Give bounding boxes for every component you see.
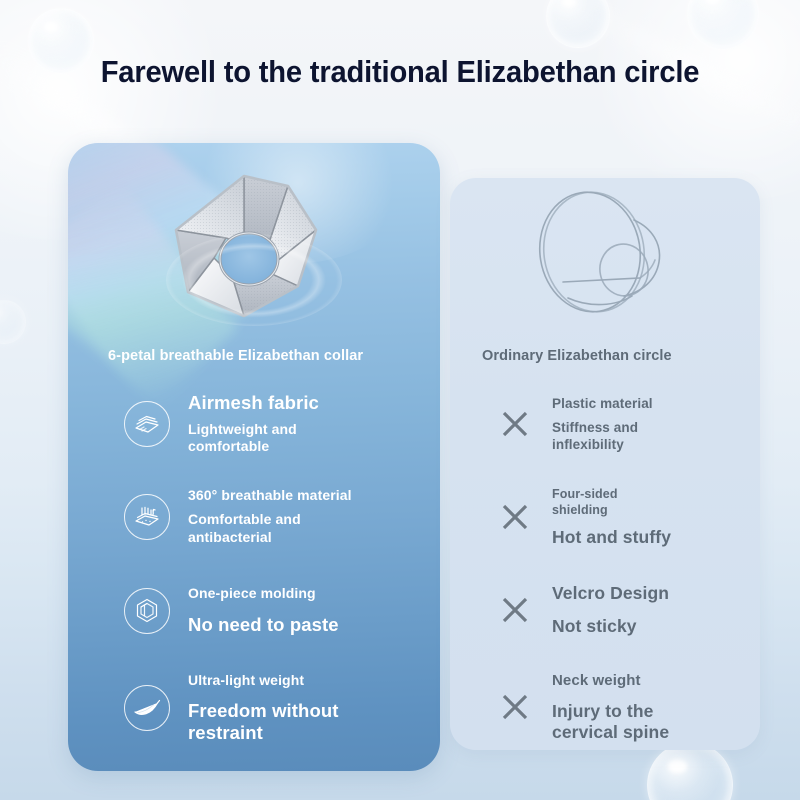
feature-detail: Freedom without restraint — [188, 700, 353, 744]
x-mark-icon — [498, 690, 532, 724]
one-piece-cube-icon — [124, 588, 170, 634]
drawback-detail: Injury to the cervical spine — [552, 701, 677, 743]
feature-row-ultra-light: Ultra-light weight Freedom without restr… — [124, 672, 353, 744]
x-mark-icon — [498, 593, 532, 627]
drawback-text-four-sided-shielding: Four-sided shielding Hot and stuffy — [552, 487, 671, 548]
feature-text-ultra-light: Ultra-light weight Freedom without restr… — [188, 672, 353, 744]
drawback-heading: Velcro Design — [552, 583, 669, 604]
feature-row-airmesh: Airmesh fabric Lightweight and comfortab… — [124, 392, 338, 456]
feature-detail: No need to paste — [188, 614, 339, 636]
feature-row-one-piece-molding: One-piece molding No need to paste — [124, 585, 339, 636]
feature-text-one-piece-molding: One-piece molding No need to paste — [188, 585, 339, 636]
feather-icon — [124, 685, 170, 731]
drawback-row-neck-weight: Neck weight Injury to the cervical spine — [498, 672, 677, 743]
drawback-row-four-sided-shielding: Four-sided shielding Hot and stuffy — [498, 487, 671, 548]
bubble-top-middle — [546, 0, 610, 48]
feature-text-airmesh: Airmesh fabric Lightweight and comfortab… — [188, 392, 338, 456]
feature-text-360-breathable: 360° breathable material Comfortable and… — [188, 487, 352, 546]
bubble-left-edge — [0, 300, 26, 344]
drawback-text-plastic-material: Plastic material Stiffness and inflexibi… — [552, 395, 682, 453]
feature-row-360-breathable: 360° breathable material Comfortable and… — [124, 487, 352, 546]
drawback-row-velcro-design: Velcro Design Not sticky — [498, 583, 669, 637]
feature-heading: 360° breathable material — [188, 487, 352, 504]
fabric-layers-icon — [124, 401, 170, 447]
right-panel-caption: Ordinary Elizabethan circle — [482, 348, 742, 364]
feature-detail: Comfortable and antibacterial — [188, 511, 338, 546]
feature-heading: Ultra-light weight — [188, 672, 353, 689]
product-photo-6petal-collar — [148, 158, 344, 334]
water-ripple — [166, 234, 342, 326]
feature-heading: One-piece molding — [188, 585, 339, 602]
drawback-row-plastic-material: Plastic material Stiffness and inflexibi… — [498, 395, 682, 453]
drawback-heading: Plastic material — [552, 395, 682, 412]
drawback-detail: Stiffness and inflexibility — [552, 419, 682, 453]
drawback-detail: Not sticky — [552, 616, 669, 637]
drawback-text-velcro-design: Velcro Design Not sticky — [552, 583, 669, 637]
bubble-top-right — [687, 0, 759, 50]
feature-detail: Lightweight and comfortable — [188, 421, 338, 456]
left-panel-caption: 6-petal breathable Elizabethan collar — [108, 348, 408, 364]
drawback-heading: Neck weight — [552, 672, 677, 691]
x-mark-icon — [498, 407, 532, 441]
bubble-bottom-right — [647, 742, 733, 800]
breathable-airflow-icon — [124, 494, 170, 540]
feature-heading: Airmesh fabric — [188, 392, 338, 414]
drawback-heading: Four-sided shielding — [552, 487, 652, 519]
drawback-detail: Hot and stuffy — [552, 527, 671, 548]
drawback-text-neck-weight: Neck weight Injury to the cervical spine — [552, 672, 677, 743]
x-mark-icon — [498, 500, 532, 534]
page-title: Farewell to the traditional Elizabethan … — [24, 54, 776, 90]
ordinary-cone-collar-illustration — [528, 186, 694, 326]
